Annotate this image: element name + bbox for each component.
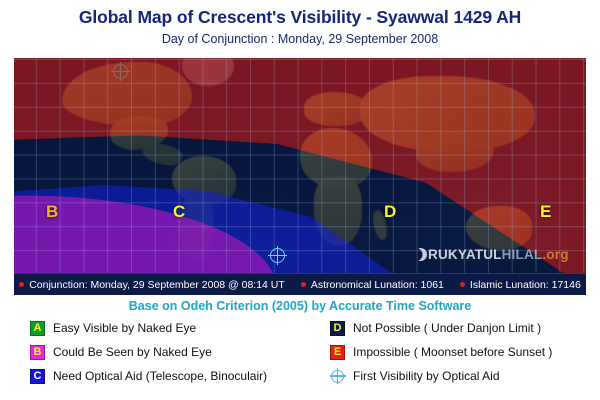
legend-swatch-b: B (30, 345, 45, 360)
legend-label-c: Need Optical Aid (Telescope, Binoculair) (53, 369, 267, 383)
legend-item-b: B Could Be Seen by Naked Eye (30, 342, 330, 362)
legend-swatch-e: E (330, 345, 345, 360)
info-bar: Conjunction: Monday, 29 September 2008 @… (14, 273, 586, 295)
map-label-zone-d: D (384, 203, 396, 220)
info-item-conjunction: Conjunction: Monday, 29 September 2008 @… (19, 279, 285, 291)
legend-item-d: D Not Possible ( Under Danjon Limit ) (330, 318, 600, 338)
crescent-moon-icon (414, 248, 427, 261)
bullet-dot-icon (460, 282, 465, 287)
info-conjunction-text: Conjunction: Monday, 29 September 2008 @… (29, 279, 285, 291)
crosshair-circle-icon (330, 369, 345, 384)
map-label-zone-e: E (540, 203, 551, 220)
map-canvas: B C D E RUKYATULHILAL.org (14, 58, 586, 273)
map-label-zone-b: B (46, 203, 58, 220)
legend-label-b: Could Be Seen by Naked Eye (53, 345, 212, 359)
bullet-dot-icon (19, 282, 24, 287)
page-title: Global Map of Crescent's Visibility - Sy… (0, 7, 600, 28)
legend-label-e: Impossible ( Moonset before Sunset ) (353, 345, 552, 359)
info-islamic-lunation-text: Islamic Lunation: 17146 (470, 279, 581, 291)
watermark-part-1: RUKYATUL (428, 247, 502, 262)
legend-swatch-d: D (330, 321, 345, 336)
map-graticule-grid (14, 58, 586, 273)
legend-swatch-c: C (30, 369, 45, 384)
legend-label-a: Easy Visible by Naked Eye (53, 321, 196, 335)
legend-item-a: A Easy Visible by Naked Eye (30, 318, 330, 338)
legend-label-d: Not Possible ( Under Danjon Limit ) (353, 321, 541, 335)
legend-item-first-visibility: First Visibility by Optical Aid (330, 366, 600, 386)
legend-swatch-a: A (30, 321, 45, 336)
first-visibility-optical-aid-marker-south (270, 248, 285, 263)
info-item-astronomical-lunation: Astronomical Lunation: 1061 (301, 279, 444, 291)
legend-heading: Base on Odeh Criterion (2005) by Accurat… (0, 297, 600, 315)
legend-grid: A Easy Visible by Naked Eye D Not Possib… (0, 318, 600, 386)
visibility-map[interactable]: B C D E RUKYATULHILAL.org (14, 58, 586, 273)
watermark: RUKYATULHILAL.org (414, 246, 569, 262)
legend-item-e: E Impossible ( Moonset before Sunset ) (330, 342, 600, 362)
watermark-part-2: HILAL (502, 247, 543, 262)
watermark-part-3: .org (542, 247, 568, 262)
legend: Base on Odeh Criterion (2005) by Accurat… (0, 297, 600, 386)
map-label-zone-c: C (173, 203, 185, 220)
bullet-dot-icon (301, 282, 306, 287)
info-astronomical-lunation-text: Astronomical Lunation: 1061 (311, 279, 444, 291)
header: Global Map of Crescent's Visibility - Sy… (0, 0, 600, 48)
info-item-islamic-lunation: Islamic Lunation: 17146 (460, 279, 581, 291)
page-subtitle: Day of Conjunction : Monday, 29 Septembe… (0, 30, 600, 48)
legend-label-first-visibility: First Visibility by Optical Aid (353, 369, 500, 383)
first-visibility-optical-aid-marker-north (113, 64, 128, 79)
legend-item-c: C Need Optical Aid (Telescope, Binoculai… (30, 366, 330, 386)
